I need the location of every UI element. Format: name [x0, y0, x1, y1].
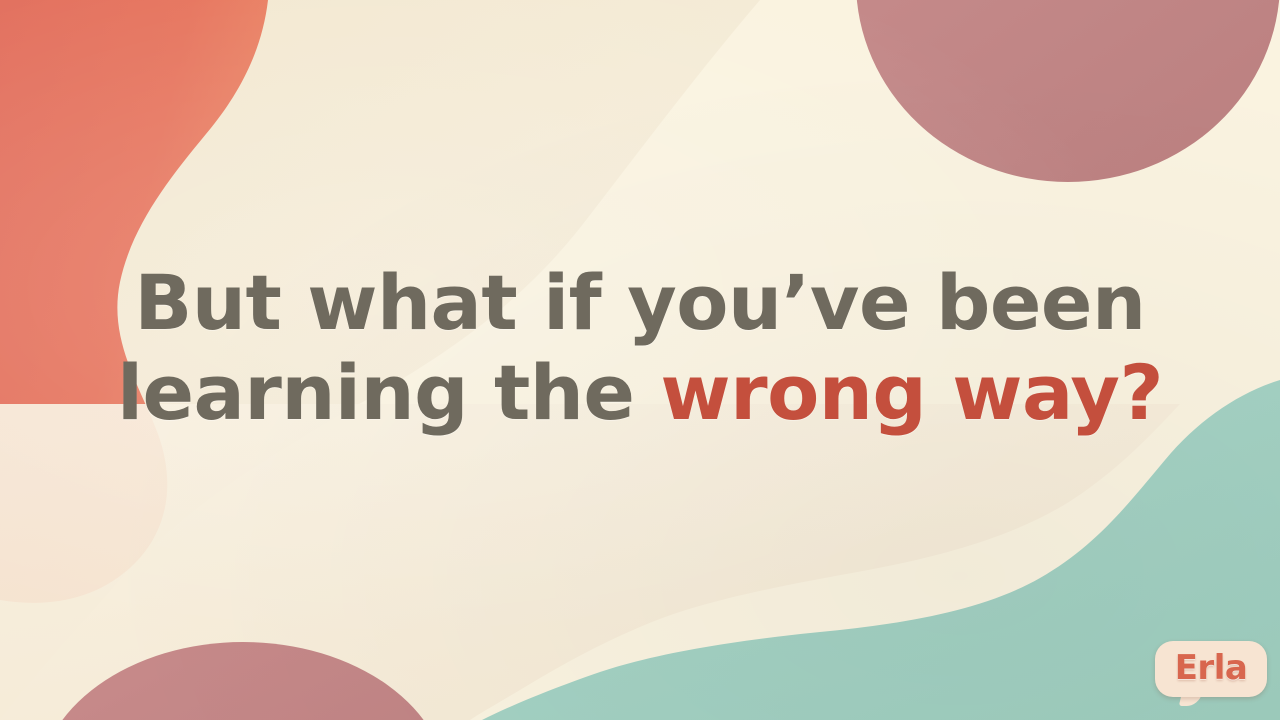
- slide-canvas: But what if you’ve been learning the wro…: [0, 0, 1280, 720]
- headline-emphasis: wrong way?: [660, 348, 1163, 437]
- headline: But what if you’ve been learning the wro…: [0, 258, 1280, 437]
- headline-line-2-prefix: learning the: [117, 348, 660, 437]
- headline-line-2: learning the wrong way?: [0, 348, 1280, 438]
- brand-logo: Erla: [1155, 641, 1267, 697]
- brand-name: Erla: [1155, 641, 1267, 697]
- headline-line-1: But what if you’ve been: [0, 258, 1280, 348]
